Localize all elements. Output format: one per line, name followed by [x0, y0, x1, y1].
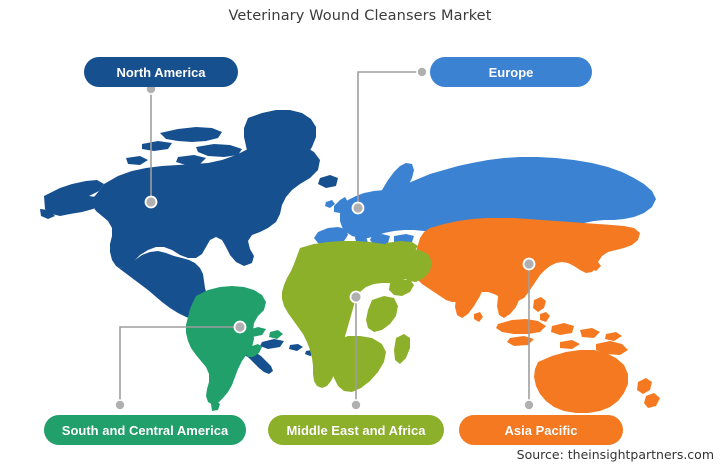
map-region-asia-pacific[interactable]	[412, 218, 660, 425]
map-region-middle-east-and-africa[interactable]	[282, 241, 432, 392]
market-region-map-infographic: Veterinary Wound Cleansers Market	[0, 0, 720, 470]
region-label-south-and-central-america[interactable]: South and Central America	[44, 415, 246, 445]
region-label-asia-pacific[interactable]: Asia Pacific	[459, 415, 623, 445]
region-label-europe[interactable]: Europe	[430, 57, 592, 87]
region-label-middle-east-and-africa[interactable]: Middle East and Africa	[268, 415, 444, 445]
source-attribution: Source: theinsightpartners.com	[0, 447, 714, 462]
region-label-north-america[interactable]: North America	[84, 57, 238, 87]
